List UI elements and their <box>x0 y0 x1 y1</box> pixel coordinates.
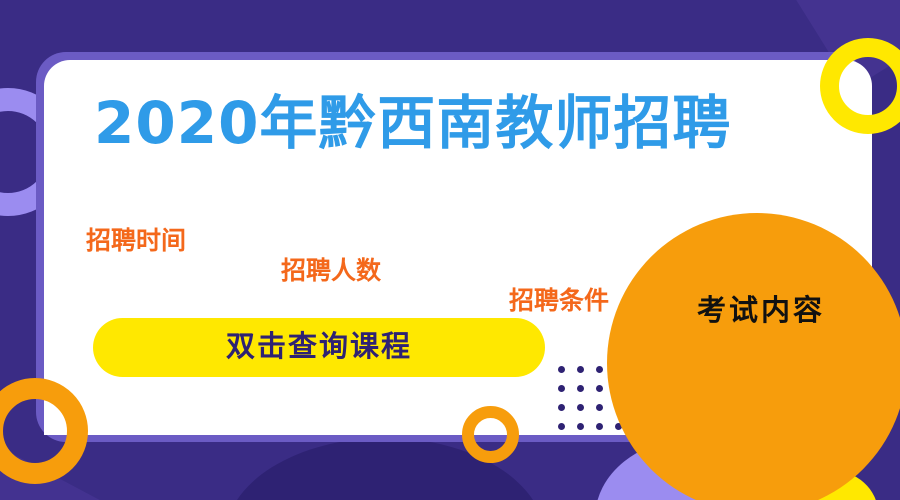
query-course-button-label: 双击查询课程 <box>226 333 412 362</box>
keyword-recruitment-headcount: 招聘人数 <box>281 258 381 283</box>
banner-canvas: 2020年黔西南教师招聘 招聘时间 招聘人数 招聘条件 双击查询课程 考试内容 <box>0 0 900 500</box>
decorative-ring-orange-small <box>462 406 519 463</box>
page-title: 2020年黔西南教师招聘 <box>94 94 731 152</box>
keyword-exam-content: 考试内容 <box>697 296 825 325</box>
decorative-circle-orange-large <box>607 213 900 500</box>
query-course-button[interactable]: 双击查询课程 <box>93 318 545 377</box>
keyword-recruitment-requirements: 招聘条件 <box>509 288 609 313</box>
keyword-recruitment-time: 招聘时间 <box>86 228 186 253</box>
